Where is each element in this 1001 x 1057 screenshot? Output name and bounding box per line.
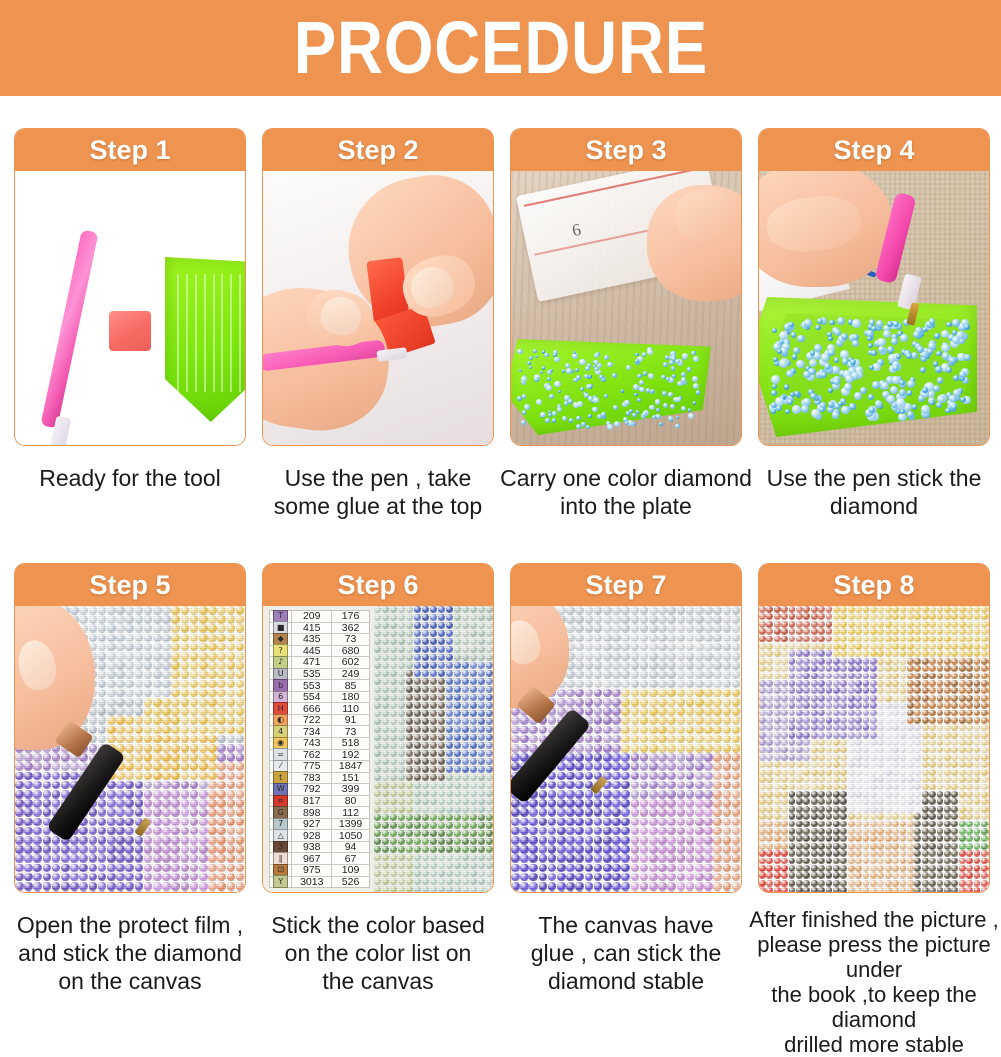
step-header-label: Step 2 [337,137,418,164]
legend-symbol-cell: 6 [270,692,292,703]
legend-code: 435 [292,634,332,645]
legend-count: 109 [332,865,369,876]
tool-kit-illustration [15,171,245,445]
legend-symbol-cell: ¤ [270,796,292,807]
legend-symbol-cell: 3 [270,842,292,853]
legend-count: 112 [332,807,369,818]
bag-number-label: 6 [570,220,582,241]
pouring-beads-illustration: 6 [511,171,741,445]
legend-row: Y3013526 [270,877,369,888]
legend-symbol-cell: ∥ [270,853,292,864]
legend-symbol-cell: ♪ [270,657,292,668]
step-cell-6: Step 6 T209176■415362◆43573?445680♪47160… [262,563,494,993]
legend-code: 734 [292,726,332,737]
legend-code: 938 [292,842,332,853]
step-header-label: Step 7 [585,572,666,599]
legend-count: 176 [332,611,369,622]
step-photo-8 [759,606,989,892]
color-chart-illustration: T209176■415362◆43573?445680♪471602U53524… [263,606,493,892]
legend-symbol-cell: = [270,750,292,761]
legend-code: 783 [292,773,332,784]
step-caption-1: Ready for the tool [5,464,255,492]
pen-picking-bead-illustration [759,171,989,445]
legend-count: 1050 [332,830,369,841]
canvas-mosaic-illustration [511,606,741,892]
finished-canvas [759,606,989,892]
legend-count: 602 [332,657,369,668]
legend-symbol-cell: 7 [270,819,292,830]
legend-symbol-cell: H [270,703,292,714]
steps-grid: Step 1 Ready for the tool [0,96,1001,1001]
legend-count: 80 [332,796,369,807]
step-photo-4 [759,171,989,445]
legend-count: 73 [332,726,369,737]
step-photo-7 [511,606,741,892]
step-header-label: Step 6 [337,572,418,599]
step-caption-4: Use the pen stick the diamond [749,464,999,520]
step-header-7: Step 7 [511,564,741,606]
legend-symbol-cell: ■ [270,623,292,634]
legend-symbol-cell: U [270,669,292,680]
step-header-3: Step 3 [511,129,741,171]
step-photo-3: 6 [511,171,741,445]
legend-code: 535 [292,669,332,680]
step-cell-2: Step 2 Use the pen , take some [262,128,494,548]
legend-code: 967 [292,853,332,864]
pink-pen-icon [40,229,98,428]
legend-count: 67 [332,853,369,864]
green-tray-icon [165,257,245,422]
glue-square-icon [109,311,151,351]
legend-count: 399 [332,784,369,795]
legend-count: 249 [332,669,369,680]
step-card-3[interactable]: Step 3 6 [510,128,742,446]
legend-code: 553 [292,680,332,691]
legend-count: 151 [332,773,369,784]
legend-count: 362 [332,623,369,634]
canvas-mosaic-illustration [15,606,245,892]
legend-code: 743 [292,738,332,749]
finished-picture-illustration [759,606,989,892]
legend-color-chip: Y [273,875,288,888]
legend-symbol-cell: △ [270,830,292,841]
legend-symbol-cell: ◉ [270,738,292,749]
page-banner: PROCEDURE [0,0,1001,96]
legend-count: 192 [332,750,369,761]
legend-symbol-cell: ⁄ [270,761,292,772]
step-caption-8: After finished the picture , please pres… [728,907,1001,1057]
legend-code: 722 [292,715,332,726]
legend-code: 762 [292,750,332,761]
step-cell-7: Step 7 The canvas have glue , can stick … [510,563,742,993]
color-legend-table[interactable]: T209176■415362◆43573?445680♪471602U53524… [269,610,370,888]
step-card-1[interactable]: Step 1 [14,128,246,446]
legend-symbol-cell: t [270,773,292,784]
legend-code: 898 [292,807,332,818]
legend-symbol-cell: b [270,680,292,691]
legend-code: 817 [292,796,332,807]
step-header-label: Step 8 [833,572,914,599]
step-header-5: Step 5 [15,564,245,606]
step-header-label: Step 4 [833,137,914,164]
step-caption-2: Use the pen , take some glue at the top [253,464,503,520]
step-caption-5: Open the protect film , and stick the di… [2,911,258,995]
step-header-label: Step 5 [89,572,170,599]
step-header-2: Step 2 [263,129,493,171]
legend-symbol-cell: Y [270,877,292,888]
step-card-6[interactable]: Step 6 T209176■415362◆43573?445680♪47160… [262,563,494,893]
legend-symbol-cell: 4 [270,726,292,737]
legend-count: 94 [332,842,369,853]
step-header-6: Step 6 [263,564,493,606]
legend-symbol-cell: ◐ [270,715,292,726]
legend-count: 1847 [332,761,369,772]
legend-symbol-cell: G [270,807,292,818]
step-card-5[interactable]: Step 5 [14,563,246,893]
step-header-label: Step 1 [89,137,170,164]
legend-count: 180 [332,692,369,703]
step-cell-1: Step 1 Ready for the tool [14,128,246,548]
step-header-label: Step 3 [585,137,666,164]
step-cell-3: Step 3 6 Carry one color diamond into [510,128,742,548]
legend-symbol-cell: ? [270,646,292,657]
step-cell-5: Step 5 Open the protect film , and stick… [14,563,246,993]
legend-symbol-cell: W [270,784,292,795]
legend-symbol-cell: ⊡ [270,865,292,876]
legend-count: 1399 [332,819,369,830]
step-caption-3: Carry one color diamond into the plate [498,464,754,520]
step-card-7[interactable]: Step 7 [510,563,742,893]
legend-code: 792 [292,784,332,795]
step-header-8: Step 8 [759,564,989,606]
legend-count: 518 [332,738,369,749]
legend-code: 666 [292,703,332,714]
legend-code: 554 [292,692,332,703]
legend-count: 73 [332,634,369,645]
step-caption-7: The canvas have glue , can stick the dia… [498,911,754,995]
step-header-4: Step 4 [759,129,989,171]
legend-symbol-cell: T [270,611,292,622]
step-caption-6: Stick the color based on the color list … [250,911,506,995]
step-card-2[interactable]: Step 2 [262,128,494,446]
legend-code: 775 [292,761,332,772]
legend-code: 927 [292,819,332,830]
step-photo-2 [263,171,493,445]
diamond-canvas [374,606,493,892]
step-photo-5 [15,606,245,892]
step-card-4[interactable]: Step 4 [758,128,990,446]
legend-code: 415 [292,623,332,634]
hands-glue-illustration [263,171,493,445]
legend-count: 110 [332,703,369,714]
step-header-1: Step 1 [15,129,245,171]
step-photo-1 [15,171,245,445]
legend-count: 85 [332,680,369,691]
legend-code: 445 [292,646,332,657]
step-cell-4: Step 4 Use the pen stick the di [758,128,990,548]
legend-count: 680 [332,646,369,657]
legend-count: 526 [332,877,369,888]
legend-code: 209 [292,611,332,622]
legend-code: 3013 [292,877,332,888]
step-cell-8: Step 8 After finished the picture , plea… [758,563,990,993]
legend-symbol-cell: ◆ [270,634,292,645]
step-photo-6: T209176■415362◆43573?445680♪471602U53524… [263,606,493,892]
legend-code: 928 [292,830,332,841]
legend-code: 975 [292,865,332,876]
page-title: PROCEDURE [293,11,707,85]
legend-code: 471 [292,657,332,668]
step-card-8[interactable]: Step 8 [758,563,990,893]
legend-count: 91 [332,715,369,726]
